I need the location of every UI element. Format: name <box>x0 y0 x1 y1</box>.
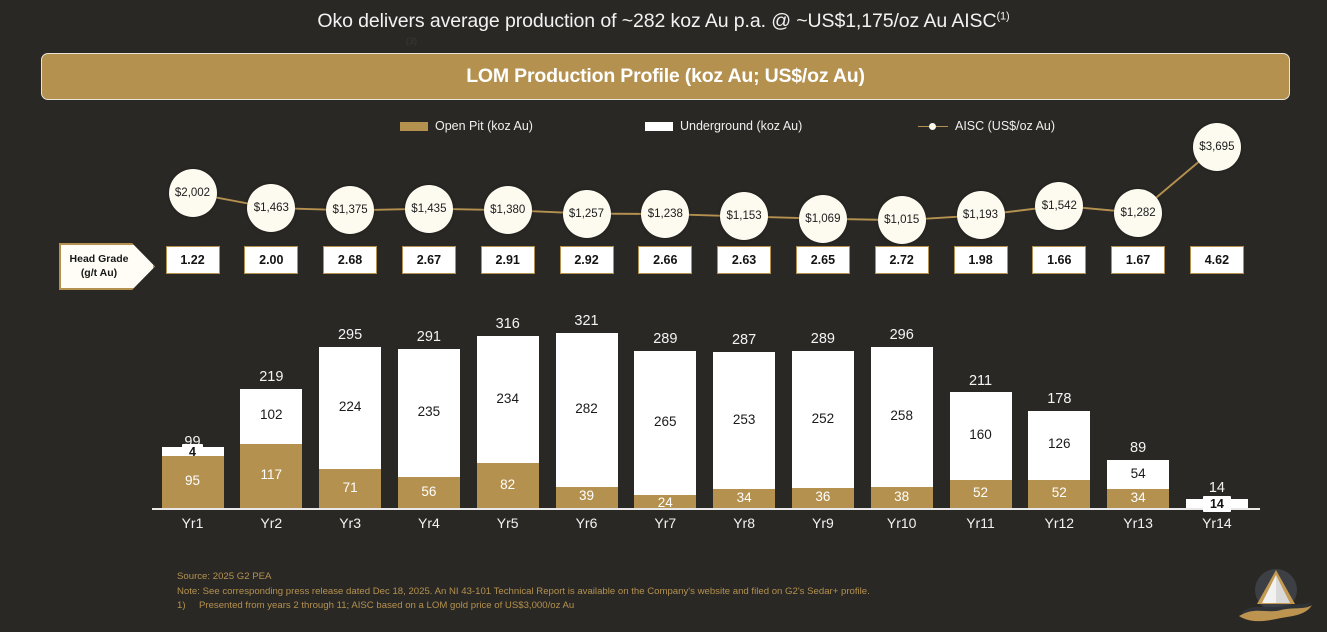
bar-group-yr12[interactable]: 17812652 <box>1028 411 1090 508</box>
aisc-bubble-label: $1,542 <box>1042 200 1077 212</box>
aisc-bubble[interactable]: $1,282 <box>1114 189 1162 237</box>
head-grade-value: 2.67 <box>417 253 441 267</box>
footnotes: Source: 2025 G2 PEA Note: See correspond… <box>177 570 1177 614</box>
head-grade-cell[interactable]: 1.66 <box>1032 246 1086 274</box>
bar-segment-underground-label: 235 <box>398 404 460 419</box>
bar-total-label: 289 <box>792 331 854 347</box>
bar-segment-open-pit[interactable]: 39 <box>556 487 618 508</box>
bar-segment-underground[interactable]: 102 <box>240 389 302 445</box>
bar-segment-underground[interactable]: 126 <box>1028 411 1090 480</box>
gold-bar-swatch <box>400 122 428 131</box>
bar-segment-open-pit-label: 82 <box>477 477 539 492</box>
bar-segment-open-pit-label: 24 <box>634 495 696 510</box>
bar-segment-underground[interactable]: 224 <box>319 347 381 469</box>
bar-segment-underground-label: 160 <box>950 427 1012 442</box>
bar-total-label: 219 <box>240 369 302 385</box>
bar-segment-open-pit[interactable]: 56 <box>398 477 460 508</box>
x-axis-tick-yr4: Yr4 <box>389 515 469 531</box>
page-title: Oko delivers average production of ~282 … <box>0 10 1327 33</box>
head-grade-value: 2.91 <box>496 253 520 267</box>
bar-group-yr13[interactable]: 895434 <box>1107 460 1169 508</box>
g2-goldfields-mountain-logo <box>1235 562 1315 624</box>
head-grade-value: 1.22 <box>180 253 204 267</box>
bar-segment-open-pit[interactable]: 117 <box>240 444 302 508</box>
x-axis-tick-yr7: Yr7 <box>625 515 705 531</box>
bar-segment-underground[interactable]: 234 <box>477 336 539 464</box>
bar-group-yr10[interactable]: 29625838 <box>871 347 933 508</box>
aisc-bubble[interactable]: $1,015 <box>878 196 926 244</box>
head-grade-cell[interactable]: 1.98 <box>954 246 1008 274</box>
aisc-bubble[interactable]: $3,695 <box>1193 123 1241 171</box>
page-title-text: Oko delivers average production of ~282 … <box>317 10 996 32</box>
head-grade-value: 1.66 <box>1047 253 1071 267</box>
bar-segment-underground-label: 234 <box>477 391 539 406</box>
aisc-bubble-label: $2,002 <box>175 187 210 199</box>
aisc-bubble-label: $1,463 <box>254 202 289 214</box>
head-grade-cell[interactable]: 2.92 <box>560 246 614 274</box>
head-grade-tag-line1: Head Grade <box>70 253 129 266</box>
bar-segment-underground[interactable]: 265 <box>634 351 696 495</box>
bar-segment-underground[interactable]: 14 <box>1186 499 1248 508</box>
aisc-bubble-label: $1,435 <box>411 203 446 215</box>
aisc-bubble[interactable]: $1,542 <box>1035 182 1083 230</box>
bar-segment-open-pit-label: 39 <box>556 488 618 503</box>
head-grade-cell[interactable]: 2.66 <box>638 246 692 274</box>
x-axis-tick-yr8: Yr8 <box>704 515 784 531</box>
legend-item-label: Open Pit (koz Au) <box>435 119 533 133</box>
x-axis-tick-yr10: Yr10 <box>862 515 942 531</box>
aisc-bubble-label: $1,380 <box>490 204 525 216</box>
bar-segment-open-pit[interactable]: 38 <box>871 487 933 508</box>
bar-group-yr1[interactable]: 99495 <box>162 447 224 508</box>
head-grade-value: 1.98 <box>968 253 992 267</box>
head-grade-cell[interactable]: 1.22 <box>166 246 220 274</box>
head-grade-cell[interactable]: 4.62 <box>1190 246 1244 274</box>
aisc-bubble-label: $1,015 <box>884 214 919 226</box>
bar-group-yr9[interactable]: 28925236 <box>792 351 854 508</box>
head-grade-cell[interactable]: 2.68 <box>323 246 377 274</box>
bar-total-label: 295 <box>319 327 381 343</box>
page-title-superscript: (1) <box>996 11 1009 23</box>
gold-line-marker-swatch <box>918 122 948 131</box>
bar-segment-open-pit-label: 52 <box>1028 485 1090 500</box>
bar-segment-open-pit[interactable]: 52 <box>1028 480 1090 508</box>
aisc-bubble[interactable]: $1,069 <box>799 195 847 243</box>
bar-segment-underground-label: 252 <box>792 411 854 426</box>
bar-segment-open-pit-label: 71 <box>319 480 381 495</box>
legend-item-3[interactable]: AISC (US$/oz Au) <box>918 119 1055 133</box>
aisc-bubble[interactable]: $1,380 <box>484 186 532 234</box>
head-grade-value: 2.66 <box>653 253 677 267</box>
bar-group-yr8[interactable]: 28725334 <box>713 352 775 508</box>
footnote-1-text: Presented from years 2 through 11; AISC … <box>199 600 574 611</box>
bar-segment-underground-value: 14 <box>1203 496 1231 512</box>
bar-segment-underground[interactable]: 282 <box>556 333 618 487</box>
head-grade-value: 2.68 <box>338 253 362 267</box>
bar-segment-underground[interactable]: 258 <box>871 347 933 488</box>
section-header-band: LOM Production Profile (koz Au; US$/oz A… <box>41 53 1290 100</box>
bar-segment-underground[interactable]: 253 <box>713 352 775 490</box>
x-axis-tick-yr13: Yr13 <box>1098 515 1178 531</box>
head-grade-cell[interactable]: 2.91 <box>481 246 535 274</box>
bar-segment-open-pit[interactable]: 34 <box>713 489 775 508</box>
head-grade-cell[interactable]: 2.72 <box>875 246 929 274</box>
head-grade-value: 2.00 <box>259 253 283 267</box>
footnote-1: 1)Presented from years 2 through 11; AIS… <box>177 599 1177 614</box>
aisc-bubble-label: $1,282 <box>1121 207 1156 219</box>
bar-segment-underground-label: 258 <box>871 408 933 423</box>
head-grade-cell[interactable]: 1.67 <box>1111 246 1165 274</box>
legend-item-1[interactable]: Open Pit (koz Au) <box>400 119 533 133</box>
footnote-1-number: 1) <box>177 599 199 614</box>
bar-segment-open-pit-label: 36 <box>792 489 854 504</box>
aisc-bubble[interactable]: $1,193 <box>957 191 1005 239</box>
aisc-bubble[interactable]: $1,257 <box>563 190 611 238</box>
bar-segment-open-pit-label: 34 <box>1107 490 1169 505</box>
bar-group-yr14[interactable]: 1414 <box>1186 499 1248 508</box>
head-grade-value: 2.65 <box>811 253 835 267</box>
head-grade-row: Head Grade (g/t Au) 1.222.002.682.672.91… <box>0 246 1327 288</box>
bar-segment-open-pit-label: 52 <box>950 485 1012 500</box>
bar-segment-underground[interactable]: 235 <box>398 349 460 477</box>
head-grade-value: 2.92 <box>574 253 598 267</box>
head-grade-value: 2.72 <box>890 253 914 267</box>
bar-segment-open-pit[interactable]: 52 <box>950 480 1012 508</box>
head-grade-tag: Head Grade (g/t Au) <box>59 243 155 290</box>
bar-group-yr6[interactable]: 32128239 <box>556 333 618 508</box>
section-header-label: LOM Production Profile (koz Au; US$/oz A… <box>466 65 865 88</box>
footnote-note: Note: See corresponding press release da… <box>177 585 1177 600</box>
aisc-bubble[interactable]: $1,435 <box>405 185 453 233</box>
bar-group-yr2[interactable]: 219102117 <box>240 389 302 508</box>
head-grade-cell[interactable]: 2.65 <box>796 246 850 274</box>
bar-group-yr4[interactable]: 29123556 <box>398 349 460 508</box>
footnote-source: Source: 2025 G2 PEA <box>177 570 1177 585</box>
bar-group-yr7[interactable]: 28926524 <box>634 351 696 509</box>
bar-total-label: 296 <box>871 327 933 343</box>
white-bar-swatch <box>645 122 673 131</box>
bar-segment-underground[interactable]: 252 <box>792 351 854 488</box>
legend-item-label: AISC (US$/oz Au) <box>955 119 1055 133</box>
bar-segment-open-pit[interactable]: 34 <box>1107 489 1169 508</box>
bar-segment-underground[interactable]: 54 <box>1107 460 1169 489</box>
bar-group-yr11[interactable]: 21116052 <box>950 392 1012 508</box>
bar-group-yr5[interactable]: 31623482 <box>477 336 539 508</box>
bar-segment-open-pit-label: 56 <box>398 484 460 499</box>
x-axis-tick-yr5: Yr5 <box>468 515 548 531</box>
aisc-bubble-label: $1,193 <box>963 209 998 221</box>
bar-segment-underground-label: 253 <box>713 412 775 427</box>
legend-item-2[interactable]: Underground (koz Au) <box>645 119 802 133</box>
bar-segment-underground-label: 224 <box>319 399 381 414</box>
x-axis-tick-yr2: Yr2 <box>231 515 311 531</box>
x-axis-tick-yr1: Yr1 <box>153 515 233 531</box>
aisc-bubble-label: $1,238 <box>648 208 683 220</box>
ghost-superscript: (3) <box>406 36 417 46</box>
bar-total-label: 316 <box>477 316 539 332</box>
bar-segment-open-pit[interactable]: 36 <box>792 488 854 508</box>
bar-segment-underground-label: 282 <box>556 401 618 416</box>
bar-segment-open-pit-label: 34 <box>713 490 775 505</box>
bar-segment-open-pit[interactable]: 95 <box>162 456 224 508</box>
bar-segment-open-pit-label: 38 <box>871 489 933 504</box>
bar-total-label: 89 <box>1107 440 1169 456</box>
x-axis-tick-yr11: Yr11 <box>941 515 1021 531</box>
bar-total-label: 211 <box>950 373 1012 389</box>
bar-total-label: 289 <box>634 331 696 347</box>
bar-segment-underground-label: 102 <box>240 407 302 422</box>
bar-segment-open-pit[interactable]: 24 <box>634 495 696 508</box>
x-axis-tick-yr3: Yr3 <box>310 515 390 531</box>
x-axis-tick-yr9: Yr9 <box>783 515 863 531</box>
head-grade-value: 1.67 <box>1126 253 1150 267</box>
x-axis-tick-yr12: Yr12 <box>1019 515 1099 531</box>
x-axis-line <box>152 508 1260 510</box>
bar-segment-underground-label: 126 <box>1028 436 1090 451</box>
bar-total-label: 287 <box>713 332 775 348</box>
head-grade-value: 2.63 <box>732 253 756 267</box>
bar-group-yr3[interactable]: 29522471 <box>319 347 381 508</box>
slide-root: Oko delivers average production of ~282 … <box>0 0 1327 632</box>
bar-segment-underground-label: 265 <box>634 414 696 429</box>
aisc-bubble[interactable]: $2,002 <box>169 169 217 217</box>
bar-segment-underground[interactable]: 160 <box>950 392 1012 479</box>
bar-segment-open-pit-label: 117 <box>240 467 302 482</box>
aisc-bubble-label: $3,695 <box>1199 141 1234 153</box>
bar-segment-underground-label: 14 <box>1186 496 1248 512</box>
bar-segment-open-pit[interactable]: 82 <box>477 463 539 508</box>
head-grade-tag-line2: (g/t Au) <box>81 267 117 280</box>
bar-total-label: 178 <box>1028 391 1090 407</box>
bar-segment-underground[interactable]: 4 <box>162 447 224 456</box>
bar-segment-underground-label: 54 <box>1107 466 1169 481</box>
aisc-bubble-label: $1,153 <box>727 210 762 222</box>
bar-chart-plot: 99495Yr1219102117Yr229522471Yr329123556Y… <box>0 300 1327 540</box>
bar-segment-open-pit-label: 95 <box>162 473 224 488</box>
bar-total-label: 291 <box>398 329 460 345</box>
aisc-bubble-label: $1,257 <box>569 208 604 220</box>
x-axis-tick-yr14: Yr14 <box>1177 515 1257 531</box>
bar-total-label: 14 <box>1186 480 1248 496</box>
aisc-bubble[interactable]: $1,463 <box>247 184 295 232</box>
head-grade-value: 4.62 <box>1205 253 1229 267</box>
legend-item-label: Underground (koz Au) <box>680 119 802 133</box>
aisc-bubble-label: $1,069 <box>805 213 840 225</box>
head-grade-cell[interactable]: 2.63 <box>717 246 771 274</box>
chart-legend: Open Pit (koz Au)Underground (koz Au)AIS… <box>0 119 1327 139</box>
head-grade-cell[interactable]: 2.67 <box>402 246 456 274</box>
bar-total-label: 321 <box>556 313 618 329</box>
aisc-bubble-label: $1,375 <box>333 204 368 216</box>
aisc-series-layer: $2,002$1,463$1,375$1,435$1,380$1,257$1,2… <box>0 140 1327 235</box>
x-axis-tick-yr6: Yr6 <box>547 515 627 531</box>
bar-segment-open-pit[interactable]: 71 <box>319 469 381 508</box>
head-grade-cell[interactable]: 2.00 <box>244 246 298 274</box>
